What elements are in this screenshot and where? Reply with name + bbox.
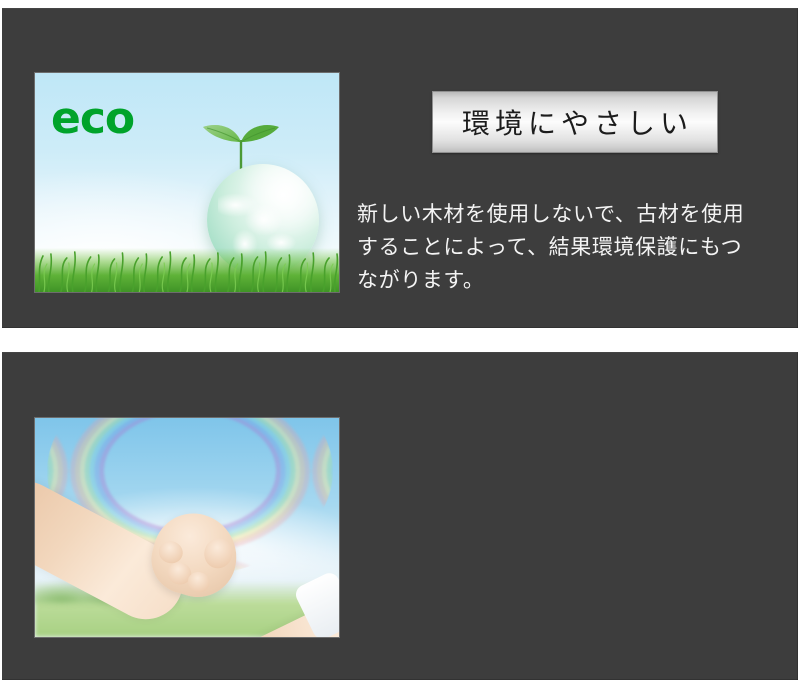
heading-banner-eco: 環境にやさしい [432, 91, 718, 153]
eco-globe-sprout-photo: eco [34, 72, 340, 293]
handshake-photo-artwork [35, 418, 339, 637]
body-copy-eco: 新しい木材を使用しないで、古材を使用 することによって、結果環境保護にもつ なが… [357, 198, 787, 297]
handshake-rainbow-photo [34, 417, 340, 638]
sprout-icon [201, 118, 281, 170]
body-line: ながります。 [357, 264, 787, 297]
promo-page: eco [0, 0, 800, 698]
body-line: 新しい木材を使用しないで、古材を使用 [357, 198, 787, 231]
body-line: することによって、結果環境保護にもつ [357, 231, 787, 264]
section-people-friendly: 人にやさしい シックハウス症候群や化学物質過敏症な どの恐れがありますが、古材は… [2, 352, 798, 680]
grass-decoration [35, 248, 339, 292]
section-eco-friendly: eco [2, 8, 798, 328]
handshake-icon [35, 418, 339, 637]
heading-text-eco: 環境にやさしい [457, 102, 693, 142]
eco-logo-text: eco [51, 97, 134, 141]
eco-photo-artwork: eco [35, 73, 339, 292]
